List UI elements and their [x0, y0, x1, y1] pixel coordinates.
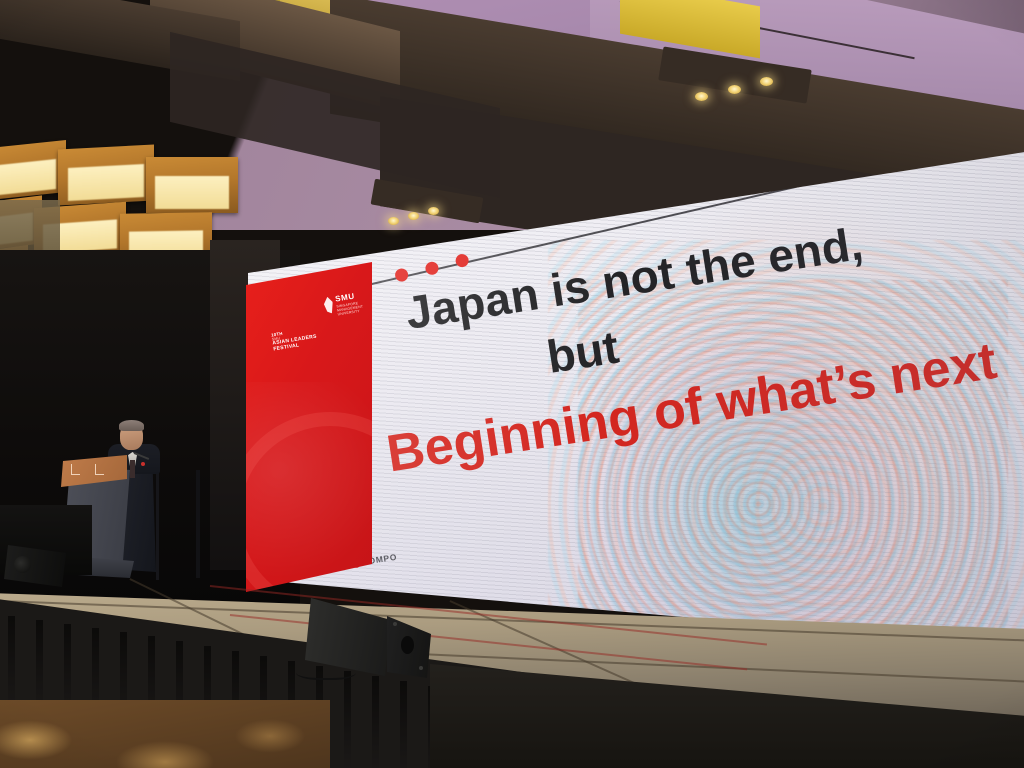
- speaker-tie: [130, 460, 135, 478]
- conference-stage-photo: Japan is not the end, but Beginning of w…: [0, 0, 1024, 768]
- downlight-icon: [428, 207, 439, 215]
- speaker-cone-icon: [14, 556, 31, 573]
- downlight-icon: [408, 212, 419, 220]
- downlight-icon: [388, 217, 399, 225]
- monitor-cable: [296, 662, 356, 680]
- red-panel-arc: [246, 412, 372, 592]
- downlight-icon: [695, 92, 708, 101]
- speaker-lapel-pin: [141, 462, 145, 466]
- monitor-horn-icon: [401, 636, 414, 654]
- smu-mark-icon: [323, 296, 335, 314]
- red-branding-panel: SMU SINGAPORE MANAGEMENT UNIVERSITY 10TH…: [246, 262, 372, 592]
- smu-logo: SMU SINGAPORE MANAGEMENT UNIVERSITY: [323, 289, 370, 318]
- festival-logo: 10TH SMU ASIAN LEADERS FESTIVAL: [271, 324, 331, 353]
- ballroom-carpet: [0, 700, 330, 768]
- stage-pole-2: [196, 470, 200, 578]
- speaker-hair: [119, 420, 144, 431]
- downlight-icon: [728, 85, 741, 94]
- downlight-icon: [760, 77, 773, 86]
